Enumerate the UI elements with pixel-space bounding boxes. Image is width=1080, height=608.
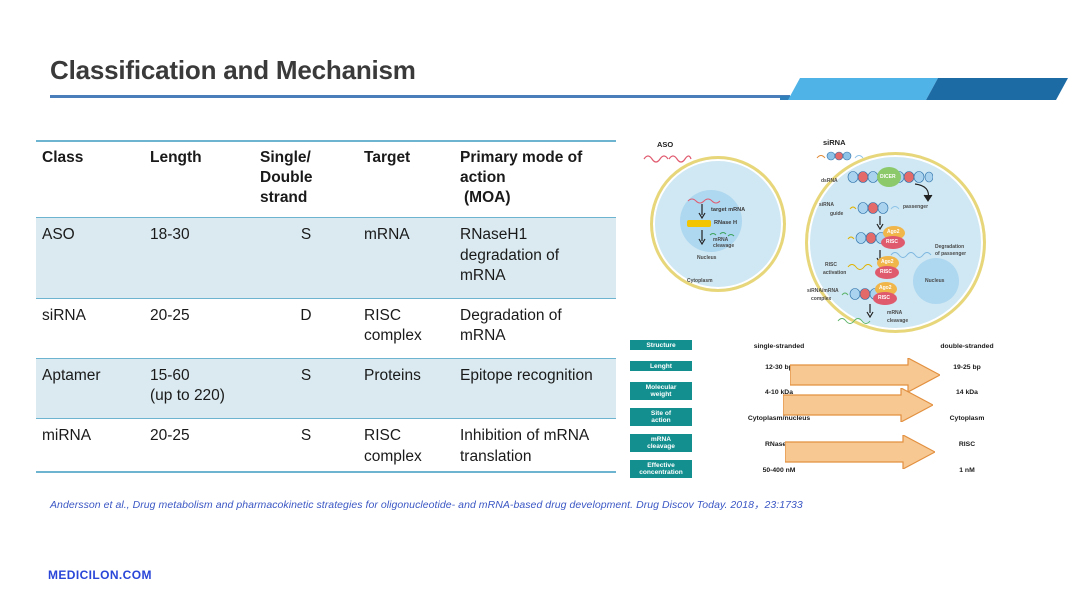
cmp-tag-soa-line2: action xyxy=(630,417,692,424)
table-row: miRNA 20-25 S RISC complex Inhibition of… xyxy=(36,419,616,479)
cmp-tag-length: Lenght xyxy=(629,360,693,372)
cmp-tag-structure: Structure xyxy=(629,339,693,351)
col-header-single-double-strand: Single/ Double strand xyxy=(254,141,358,218)
cmp-tag-soa-line1: Site of xyxy=(630,410,692,417)
table-row: Aptamer 15-60 (up to 220) S Proteins Epi… xyxy=(36,359,616,419)
cmp-tag-molecular-weight: Molecular weight xyxy=(629,381,693,401)
cell-strand: D xyxy=(254,298,358,358)
ago2-label-2: Ago2 xyxy=(881,259,894,265)
highlight-arrow-2-icon xyxy=(783,388,933,422)
aso-rnase-h-label: RNase H xyxy=(714,220,737,226)
sirna-curved-arrow-icon xyxy=(913,182,935,204)
cmp-tag-site-of-action: Site of action xyxy=(629,407,693,427)
cell-length-line1: 20-25 xyxy=(150,426,248,446)
cell-target: Proteins xyxy=(358,359,454,419)
cell-moa-line1: RNaseH1 degradation of xyxy=(460,225,610,265)
cell-target-line2: complex xyxy=(364,447,448,467)
cell-target: mRNA xyxy=(358,218,454,298)
cell-class: ASO xyxy=(36,218,144,298)
aso-nucleus-label: Nucleus xyxy=(697,255,716,261)
cell-target: RISC complex xyxy=(358,419,454,479)
cell-moa-line1: Epitope recognition xyxy=(460,366,610,386)
cmp-tag-cleav-line2: cleavage xyxy=(630,443,692,450)
cmp-tag-mw-line2: weight xyxy=(630,391,692,398)
dicer-label: DICER xyxy=(880,174,896,180)
risc-label-1: RISC xyxy=(886,239,898,245)
risc-label-2: RISC xyxy=(880,269,892,275)
table-row: ASO 18-30 S mRNA RNaseH1 degradation of … xyxy=(36,218,616,298)
cmp-left-structure: single-stranded xyxy=(709,343,849,350)
table-bottom-rule xyxy=(36,471,616,473)
sirna-guide-label: guide xyxy=(830,211,843,217)
banner-light-parallelogram xyxy=(788,78,938,100)
cell-moa: Epitope recognition xyxy=(454,359,616,419)
footer-logo: MEDICILON.COM xyxy=(48,568,152,582)
cell-length: 20-25 xyxy=(144,419,254,479)
cell-length-line2: (up to 220) xyxy=(150,386,248,406)
cmp-tag-cleav-line1: mRNA xyxy=(630,436,692,443)
aso-mrna-cleavage-line2: cleavage xyxy=(713,243,734,249)
highlight-arrow-1-icon xyxy=(790,358,940,392)
cell-class: Aptamer xyxy=(36,359,144,419)
aso-panel-title: ASO xyxy=(657,140,673,149)
cell-length: 20-25 xyxy=(144,298,254,358)
cmp-tag-mw-line1: Molecular xyxy=(630,384,692,391)
col-header-sd-line2: Double xyxy=(260,168,352,188)
rnase-h-enzyme-shape xyxy=(687,220,711,227)
cmp-tag-mrna-cleavage: mRNA cleavage xyxy=(629,433,693,453)
col-header-length: Length xyxy=(144,141,254,218)
sirna-mrna-cleavage-line1: mRNA xyxy=(887,310,902,316)
cell-class: siRNA xyxy=(36,298,144,358)
sirna-mrna-cleavage-line2: cleavage xyxy=(887,318,908,324)
risc-activation-line2: activation xyxy=(823,270,846,276)
cmp-tag-eff-line2: concentration xyxy=(630,469,692,476)
cell-target-line1: RISC xyxy=(364,306,448,326)
cell-length-line1: 18-30 xyxy=(150,225,248,245)
cell-target-line1: Proteins xyxy=(364,366,448,386)
cell-strand: S xyxy=(254,359,358,419)
sirna-panel-title: siRNA xyxy=(823,138,846,147)
aso-cytoplasm-label: Cytoplasm xyxy=(687,278,713,284)
page-title: Classification and Mechanism xyxy=(50,55,416,86)
aso-target-mrna-label: target mRNA xyxy=(711,207,745,213)
degradation-label-line2: of passenger xyxy=(935,251,966,257)
cell-target-line2: complex xyxy=(364,326,448,346)
sirna-arrow-1-icon xyxy=(875,216,885,230)
cell-length-line1: 15-60 xyxy=(150,366,248,386)
col-header-moa-line2: (MOA) xyxy=(460,188,610,208)
cell-target: RISC complex xyxy=(358,298,454,358)
col-header-moa-line1: Primary mode of action xyxy=(460,148,610,188)
cell-moa-line1: Inhibition of mRNA xyxy=(460,426,610,446)
cell-moa: Degradation of mRNA xyxy=(454,298,616,358)
cmp-right-structure: double-stranded xyxy=(897,343,1037,350)
cell-target-line1: mRNA xyxy=(364,225,448,245)
highlight-arrow-3-icon xyxy=(785,435,935,469)
ago2-label-1: Ago2 xyxy=(887,229,900,235)
sirna-dsrna-label: dsRNA xyxy=(821,178,838,184)
title-underline-rule xyxy=(50,95,790,98)
col-header-class: Class xyxy=(36,141,144,218)
cell-moa: RNaseH1 degradation of mRNA xyxy=(454,218,616,298)
cell-class: miRNA xyxy=(36,419,144,479)
cmp-tag-effective-concentration: Effective concentration xyxy=(629,459,693,479)
sirna-label: siRNA xyxy=(819,202,834,208)
sirna-nucleus-label: Nucleus xyxy=(925,278,944,284)
ago2-label-3: Ago2 xyxy=(879,285,892,291)
cell-moa-line1: Degradation of mRNA xyxy=(460,306,610,346)
sirna-cleaved-mrna-icon xyxy=(837,314,887,326)
mechanism-figure: ASO target mRNA RNase H mRNA cleavage Nu… xyxy=(625,138,1055,478)
cell-target-line1: RISC xyxy=(364,426,448,446)
citation-text: Andersson et al., Drug metabolism and ph… xyxy=(50,497,803,512)
cmp-tag-eff-line1: Effective xyxy=(630,462,692,469)
cell-moa: Inhibition of mRNA translation xyxy=(454,419,616,479)
cell-strand: S xyxy=(254,419,358,479)
risc-label-3: RISC xyxy=(878,295,890,301)
sirna-passenger-label: passenger xyxy=(903,204,928,210)
table-header: Class Length Single/ Double strand Targe… xyxy=(36,141,616,218)
cell-strand: S xyxy=(254,218,358,298)
aso-strand-icon xyxy=(643,152,693,164)
degradation-label-line1: Degradation xyxy=(935,244,964,250)
table-header-row: Class Length Single/ Double strand Targe… xyxy=(36,141,616,218)
cmp-tag-structure-line1: Structure xyxy=(630,342,692,349)
cell-length: 15-60 (up to 220) xyxy=(144,359,254,419)
cell-moa-line2: mRNA xyxy=(460,266,610,286)
col-header-sd-line1: Single/ xyxy=(260,148,352,168)
classification-table: Class Length Single/ Double strand Targe… xyxy=(36,140,616,479)
table-row: siRNA 20-25 D RISC complex Degradation o… xyxy=(36,298,616,358)
cell-length: 18-30 xyxy=(144,218,254,298)
aso-arrow-1-icon xyxy=(697,204,707,220)
aso-arrow-2-icon xyxy=(697,230,707,246)
cmp-tag-length-line1: Lenght xyxy=(630,363,692,370)
header-banner-decoration xyxy=(780,78,1068,100)
sirna-mrna-complex-line2: complex xyxy=(811,296,831,302)
col-header-target: Target xyxy=(358,141,454,218)
col-header-moa: Primary mode of action (MOA) xyxy=(454,141,616,218)
risc-activation-line1: RISC xyxy=(825,262,837,268)
cell-moa-line2: translation xyxy=(460,447,610,467)
table-body: ASO 18-30 S mRNA RNaseH1 degradation of … xyxy=(36,218,616,479)
sirna-mrna-complex-line1: siRNA/mRNA xyxy=(807,288,839,294)
cell-length-line1: 20-25 xyxy=(150,306,248,326)
banner-dark-parallelogram xyxy=(926,78,1068,100)
col-header-sd-line3: strand xyxy=(260,188,352,208)
